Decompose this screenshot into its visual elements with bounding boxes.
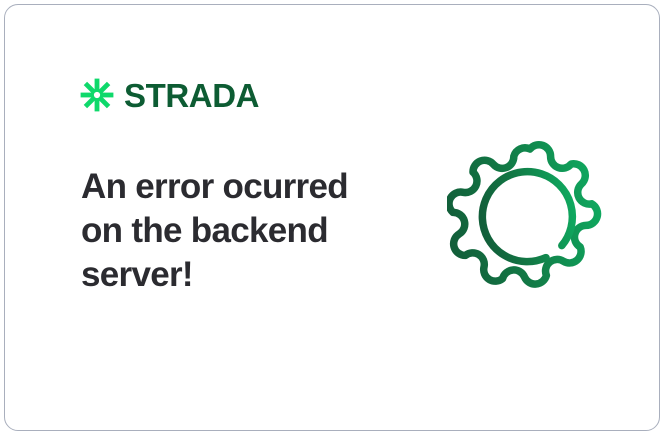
error-screen: STRADA An error ocurred on the backend s…: [0, 0, 666, 436]
brand-wordmark: STRADA: [124, 79, 259, 112]
gear-illustration: [447, 139, 613, 305]
strada-asterisk-icon: [79, 77, 115, 113]
brand-logo: STRADA: [79, 73, 259, 117]
error-headline: An error ocurred on the backend server!: [81, 165, 381, 296]
error-card: STRADA An error ocurred on the backend s…: [4, 4, 660, 431]
gear-inner-ring: [482, 172, 572, 262]
